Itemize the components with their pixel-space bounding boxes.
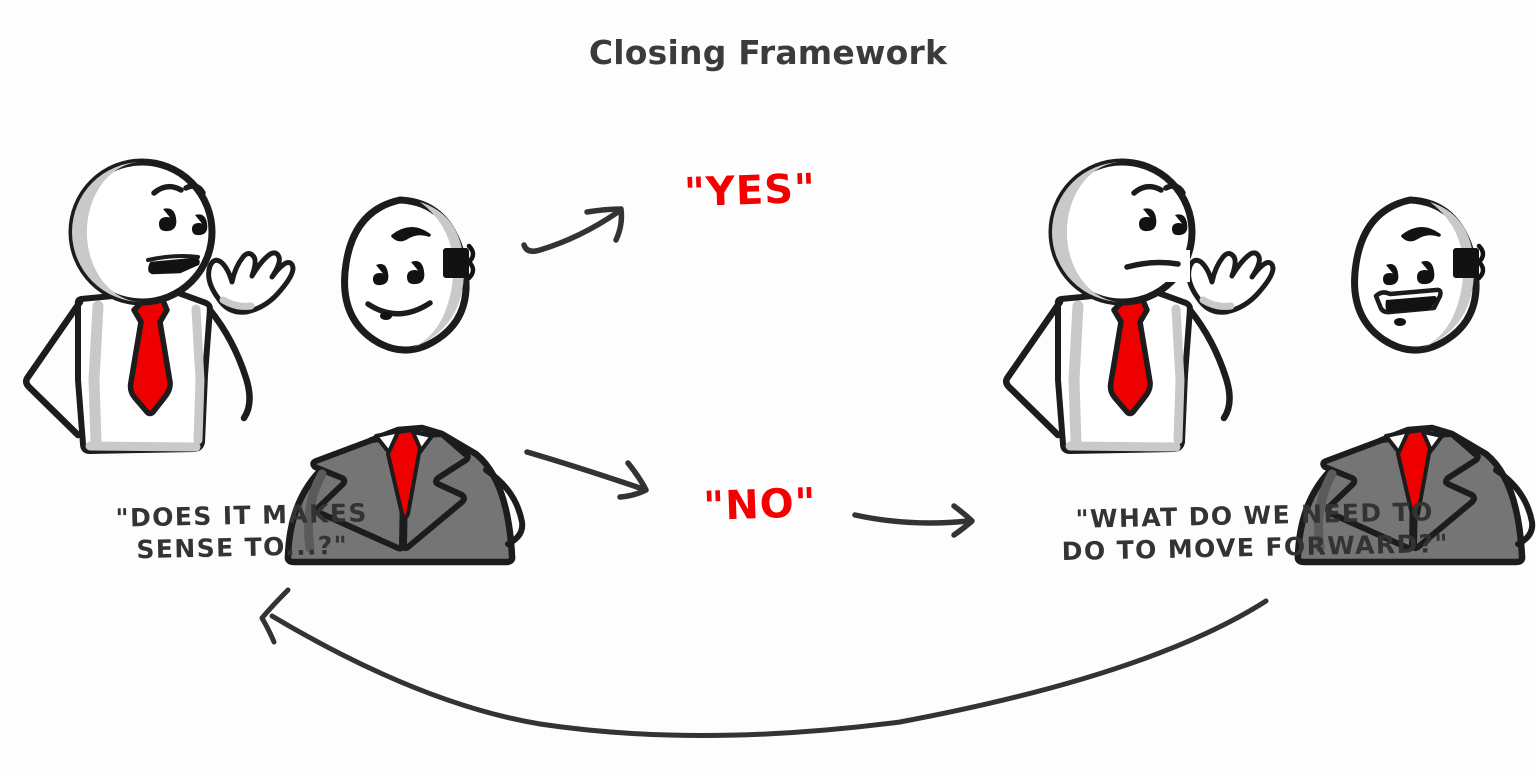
arrow-to-yes-icon: [524, 209, 621, 251]
arrow-loop-back-icon: [262, 590, 1266, 736]
figure-salesperson-right: [1006, 162, 1273, 451]
caption-right-question: "WHAT DO WE NEED TO DO TO MOVE FORWARD?": [1019, 495, 1490, 569]
caption-left-question: "DOES IT MAKES SENSE TO...?": [71, 496, 412, 567]
figure-salesperson-left: [26, 162, 293, 451]
arrow-to-no-icon: [527, 452, 646, 497]
branch-label-no: "NO": [659, 479, 860, 532]
arrow-no-to-scene-icon: [855, 506, 972, 535]
illustration-canvas: Closing Framework: [0, 0, 1536, 774]
chin-dot-2: [1394, 318, 1406, 326]
branch-label-yes: "YES": [649, 165, 850, 218]
closing-framework-diagram: [0, 0, 1536, 774]
